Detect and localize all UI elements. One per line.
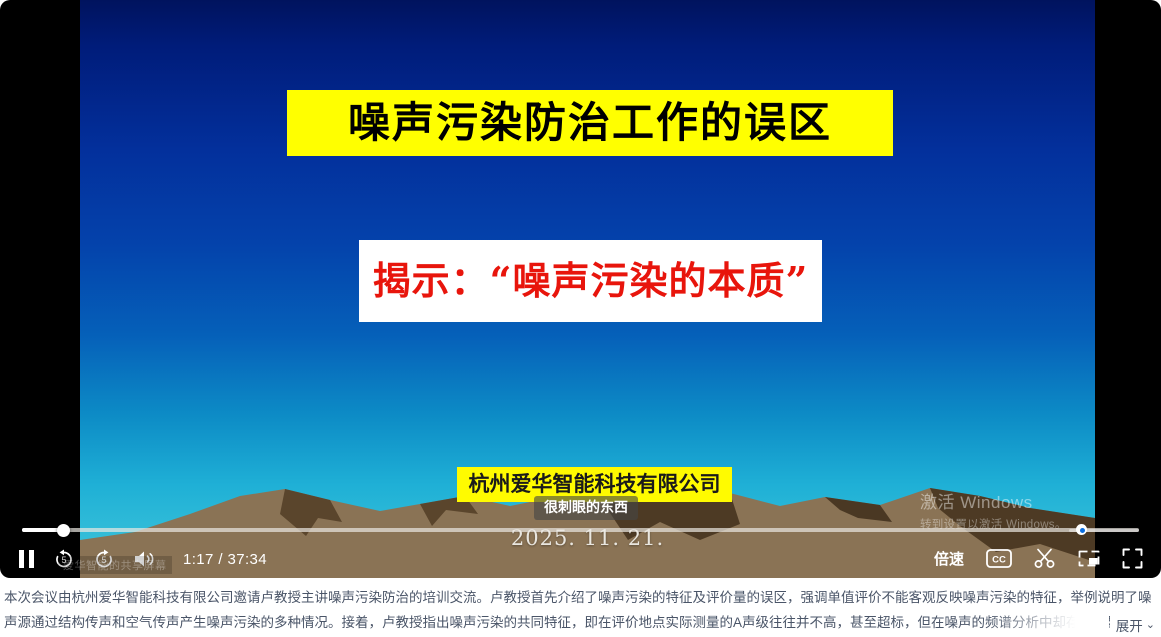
volume-slider[interactable]: [1069, 525, 1139, 535]
expand-label: 展开: [1116, 615, 1143, 635]
time-display: 1:17 / 37:34: [183, 551, 267, 568]
controls-right-group[interactable]: 倍速 CC: [934, 548, 1143, 569]
progress-track[interactable]: [22, 528, 1139, 532]
slide-subtitle-box: 揭示：“噪声污染的本质”: [359, 240, 822, 322]
volume-knob[interactable]: [1076, 524, 1087, 535]
progress-bar-row[interactable]: [0, 522, 1161, 536]
forward-5-button[interactable]: 5: [93, 548, 115, 570]
slide-title-text: 噪声污染防治工作的误区: [348, 102, 832, 144]
rewind-5-icon: 5: [53, 548, 75, 570]
scissors-icon: [1034, 548, 1056, 569]
svg-text:5: 5: [61, 555, 66, 565]
rewind-5-button[interactable]: 5: [53, 548, 75, 570]
pause-button[interactable]: [18, 549, 35, 569]
fullscreen-icon: [1122, 548, 1143, 569]
expand-description-button[interactable]: 展开 ⌄: [1110, 615, 1155, 635]
controls-left-group[interactable]: 5 5 1:17 / 3: [18, 548, 267, 570]
slide-annotation-note: 很刺眼的东西: [534, 496, 638, 520]
cc-icon: CC: [986, 549, 1012, 568]
video-description: 本次会议由杭州爱华智能科技有限公司邀请卢教授主讲噪声污染防治的培训交流。卢教授首…: [0, 580, 1161, 637]
presentation-slide: 噪声污染防治工作的误区 揭示：“噪声污染的本质” 杭州爱华智能科技有限公司 很刺…: [80, 0, 1095, 578]
description-text: 本次会议由杭州爱华智能科技有限公司邀请卢教授主讲噪声污染防治的培训交流。卢教授首…: [4, 585, 1153, 635]
fullscreen-button[interactable]: [1122, 548, 1143, 569]
forward-5-icon: 5: [93, 548, 115, 570]
player-control-bar[interactable]: 5 5 1:17 / 3: [0, 522, 1161, 578]
svg-text:5: 5: [101, 555, 106, 565]
slide-title-box: 噪声污染防治工作的误区: [287, 90, 893, 156]
clip-button[interactable]: [1034, 548, 1056, 569]
chevron-down-icon: ⌄: [1146, 620, 1155, 631]
page-root: 噪声污染防治工作的误区 揭示：“噪声污染的本质” 杭州爱华智能科技有限公司 很刺…: [0, 0, 1161, 637]
slide-company-text: 杭州爱华智能科技有限公司: [469, 474, 721, 495]
progress-knob[interactable]: [57, 524, 70, 537]
svg-text:CC: CC: [992, 555, 1006, 566]
video-player[interactable]: 噪声污染防治工作的误区 揭示：“噪声污染的本质” 杭州爱华智能科技有限公司 很刺…: [0, 0, 1161, 578]
windows-activation-title: 激活 Windows: [920, 492, 1067, 514]
picture-in-picture-button[interactable]: [1078, 549, 1100, 568]
pause-icon: [18, 549, 35, 569]
slide-subtitle-text: 揭示：“噪声污染的本质”: [373, 262, 809, 300]
playback-speed-button[interactable]: 倍速: [934, 548, 964, 569]
volume-button[interactable]: [133, 549, 157, 569]
volume-icon: [133, 549, 157, 569]
pip-icon: [1078, 549, 1100, 568]
captions-button[interactable]: CC: [986, 549, 1012, 568]
